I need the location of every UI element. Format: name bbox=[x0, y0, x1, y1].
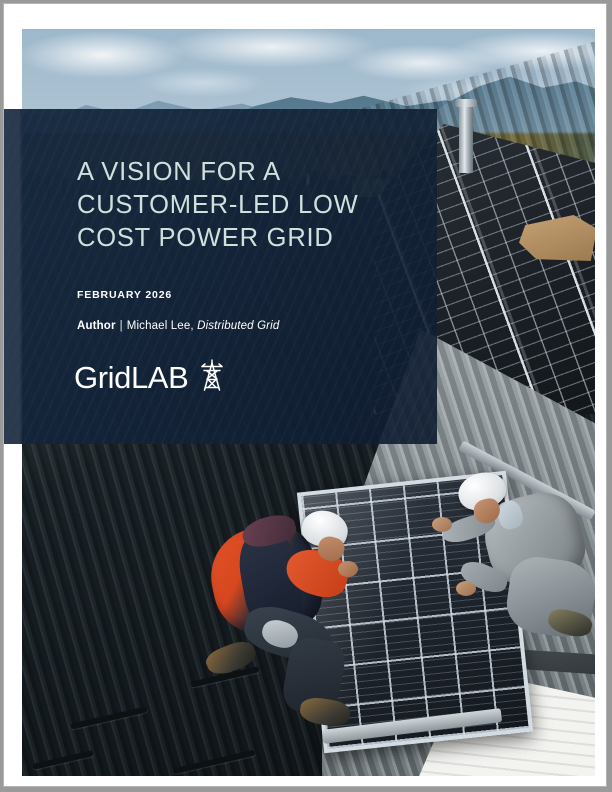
worker-orange-jacket bbox=[190, 481, 365, 731]
worker1-boot-right bbox=[298, 696, 351, 729]
author-separator: | bbox=[116, 320, 127, 332]
transmission-tower-icon bbox=[198, 357, 226, 393]
author-line: Author|Michael Lee, Distributed Grid bbox=[77, 320, 279, 332]
author-label: Author bbox=[77, 320, 116, 332]
metal-chimney bbox=[459, 103, 473, 173]
cover-text-block: A VISION FOR A CUSTOMER-LED LOW COST POW… bbox=[4, 109, 437, 444]
publication-date: FEBRUARY 2026 bbox=[77, 289, 172, 301]
page-title: A VISION FOR A CUSTOMER-LED LOW COST POW… bbox=[77, 156, 417, 255]
title-line-3: COST POWER GRID bbox=[77, 222, 417, 255]
title-line-2: CUSTOMER-LED LOW bbox=[77, 189, 417, 222]
title-line-1: A VISION FOR A bbox=[77, 156, 417, 189]
gridlab-logo: GridLAB bbox=[74, 361, 188, 395]
author-organization: Distributed Grid bbox=[197, 320, 279, 332]
worker2-hand-upper bbox=[432, 517, 452, 532]
worker-grey-coveralls bbox=[450, 461, 595, 681]
chimney-cap bbox=[455, 99, 477, 107]
gridlab-logo-text: GridLAB bbox=[74, 361, 188, 395]
author-name: Michael Lee, bbox=[127, 320, 194, 332]
document-page: A VISION FOR A CUSTOMER-LED LOW COST POW… bbox=[3, 3, 607, 787]
worker1-boot-left bbox=[203, 637, 259, 680]
worker1-hand bbox=[338, 561, 358, 577]
worker2-hand-lower bbox=[456, 581, 476, 596]
